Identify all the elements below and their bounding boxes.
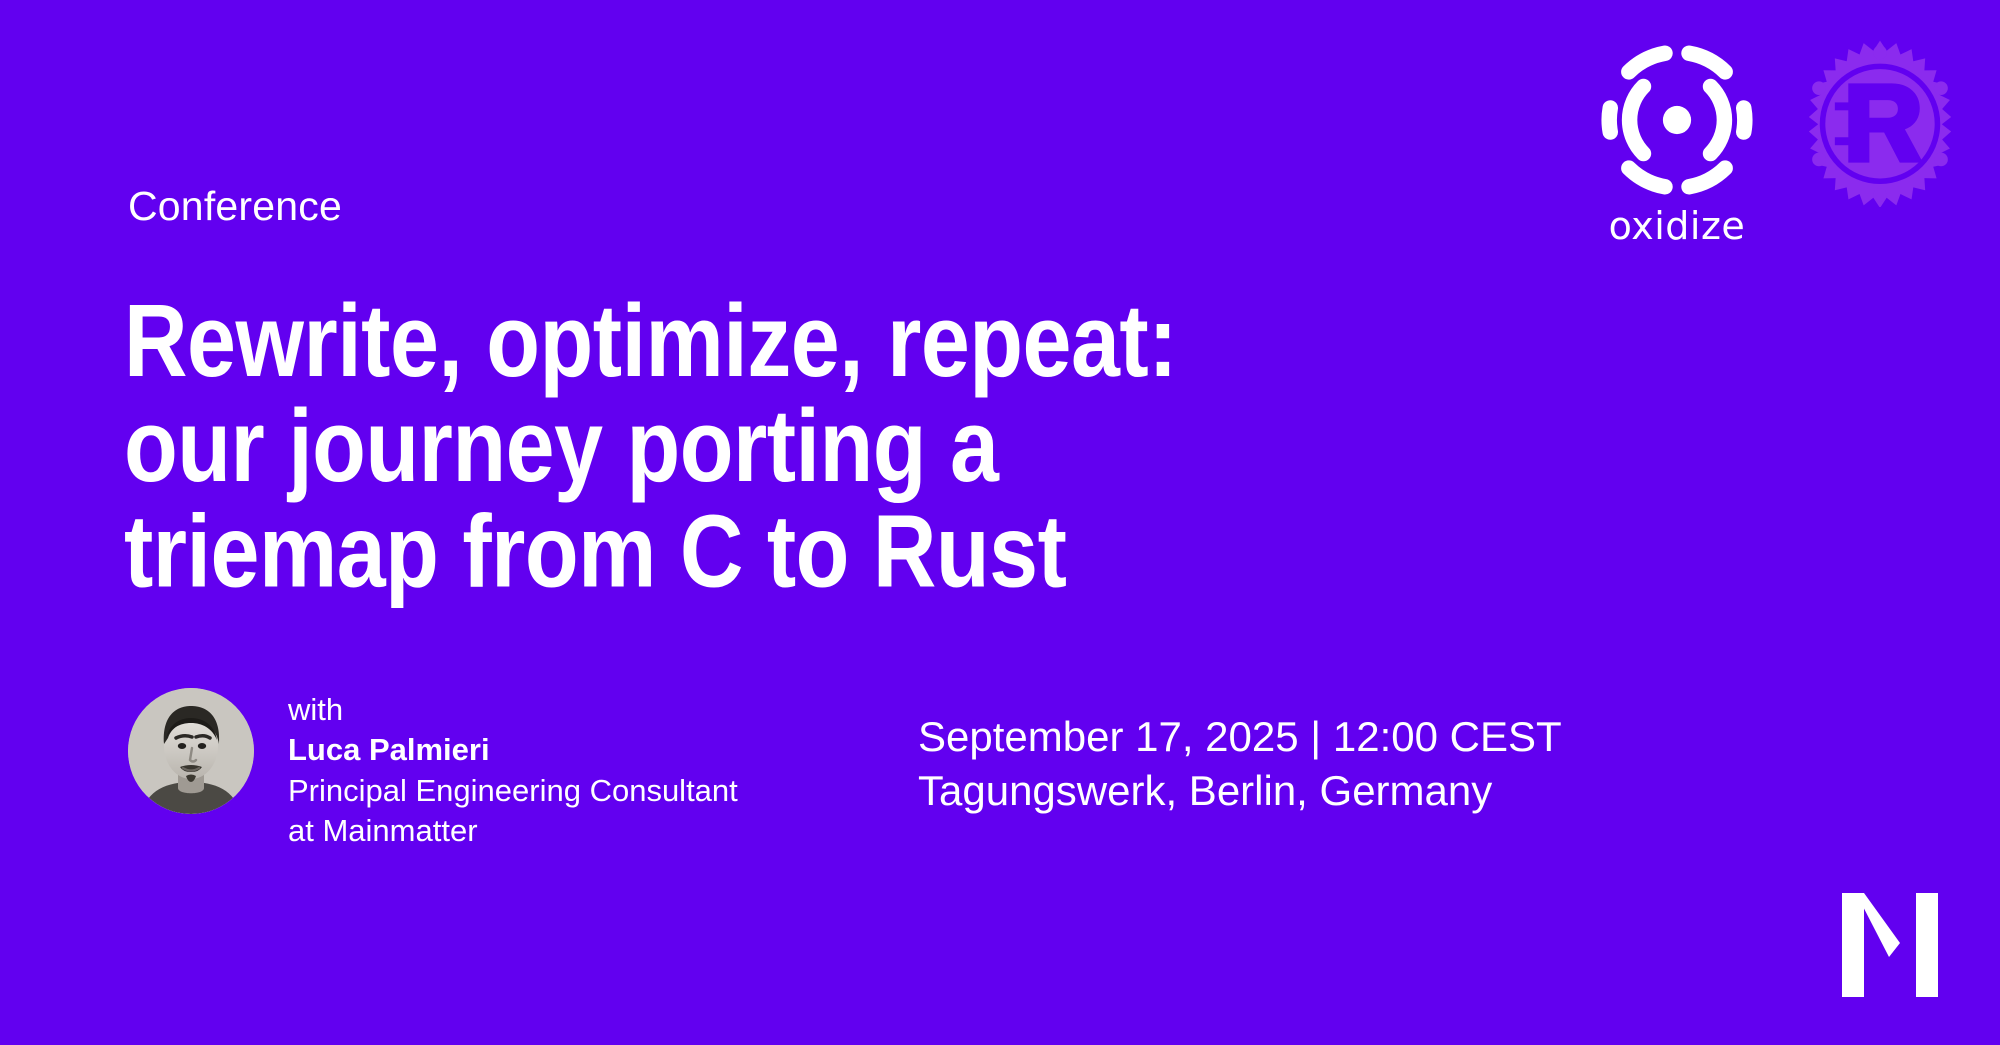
speaker-organization: at Mainmatter [288, 811, 738, 851]
speaker-role: Principal Engineering Consultant [288, 771, 738, 811]
event-announcement-poster: oxidize Confe [0, 0, 2000, 1045]
mainmatter-m-icon [1842, 893, 1950, 997]
speaker-block: with Luca Palmieri Principal Engineering… [128, 688, 738, 851]
avatar [128, 688, 254, 814]
speaker-portrait-photo [128, 688, 254, 814]
speaker-name: Luca Palmieri [288, 730, 738, 770]
oxidize-logo: oxidize [1588, 34, 1766, 248]
logo-cluster: oxidize [1588, 34, 1964, 248]
title-line-3: triemap from C to Rust [124, 498, 1484, 603]
rust-gear-icon [1796, 39, 1964, 207]
title-line-1: Rewrite, optimize, repeat: [124, 288, 1484, 393]
mainmatter-logo [1842, 893, 1950, 997]
oxidize-concentric-rings-icon [1588, 34, 1766, 206]
page-title: Rewrite, optimize, repeat: our journey p… [124, 288, 1484, 603]
event-datetime: September 17, 2025 | 12:00 CEST [918, 710, 1562, 764]
title-line-2: our journey porting a [124, 393, 1484, 498]
speaker-with-label: with [288, 690, 738, 730]
eyebrow-label: Conference [128, 183, 342, 230]
event-venue: Tagungswerk, Berlin, Germany [918, 764, 1562, 818]
oxidize-wordmark: oxidize [1609, 204, 1746, 248]
speaker-details: with Luca Palmieri Principal Engineering… [288, 688, 738, 851]
event-info: September 17, 2025 | 12:00 CEST Tagungsw… [918, 710, 1562, 818]
